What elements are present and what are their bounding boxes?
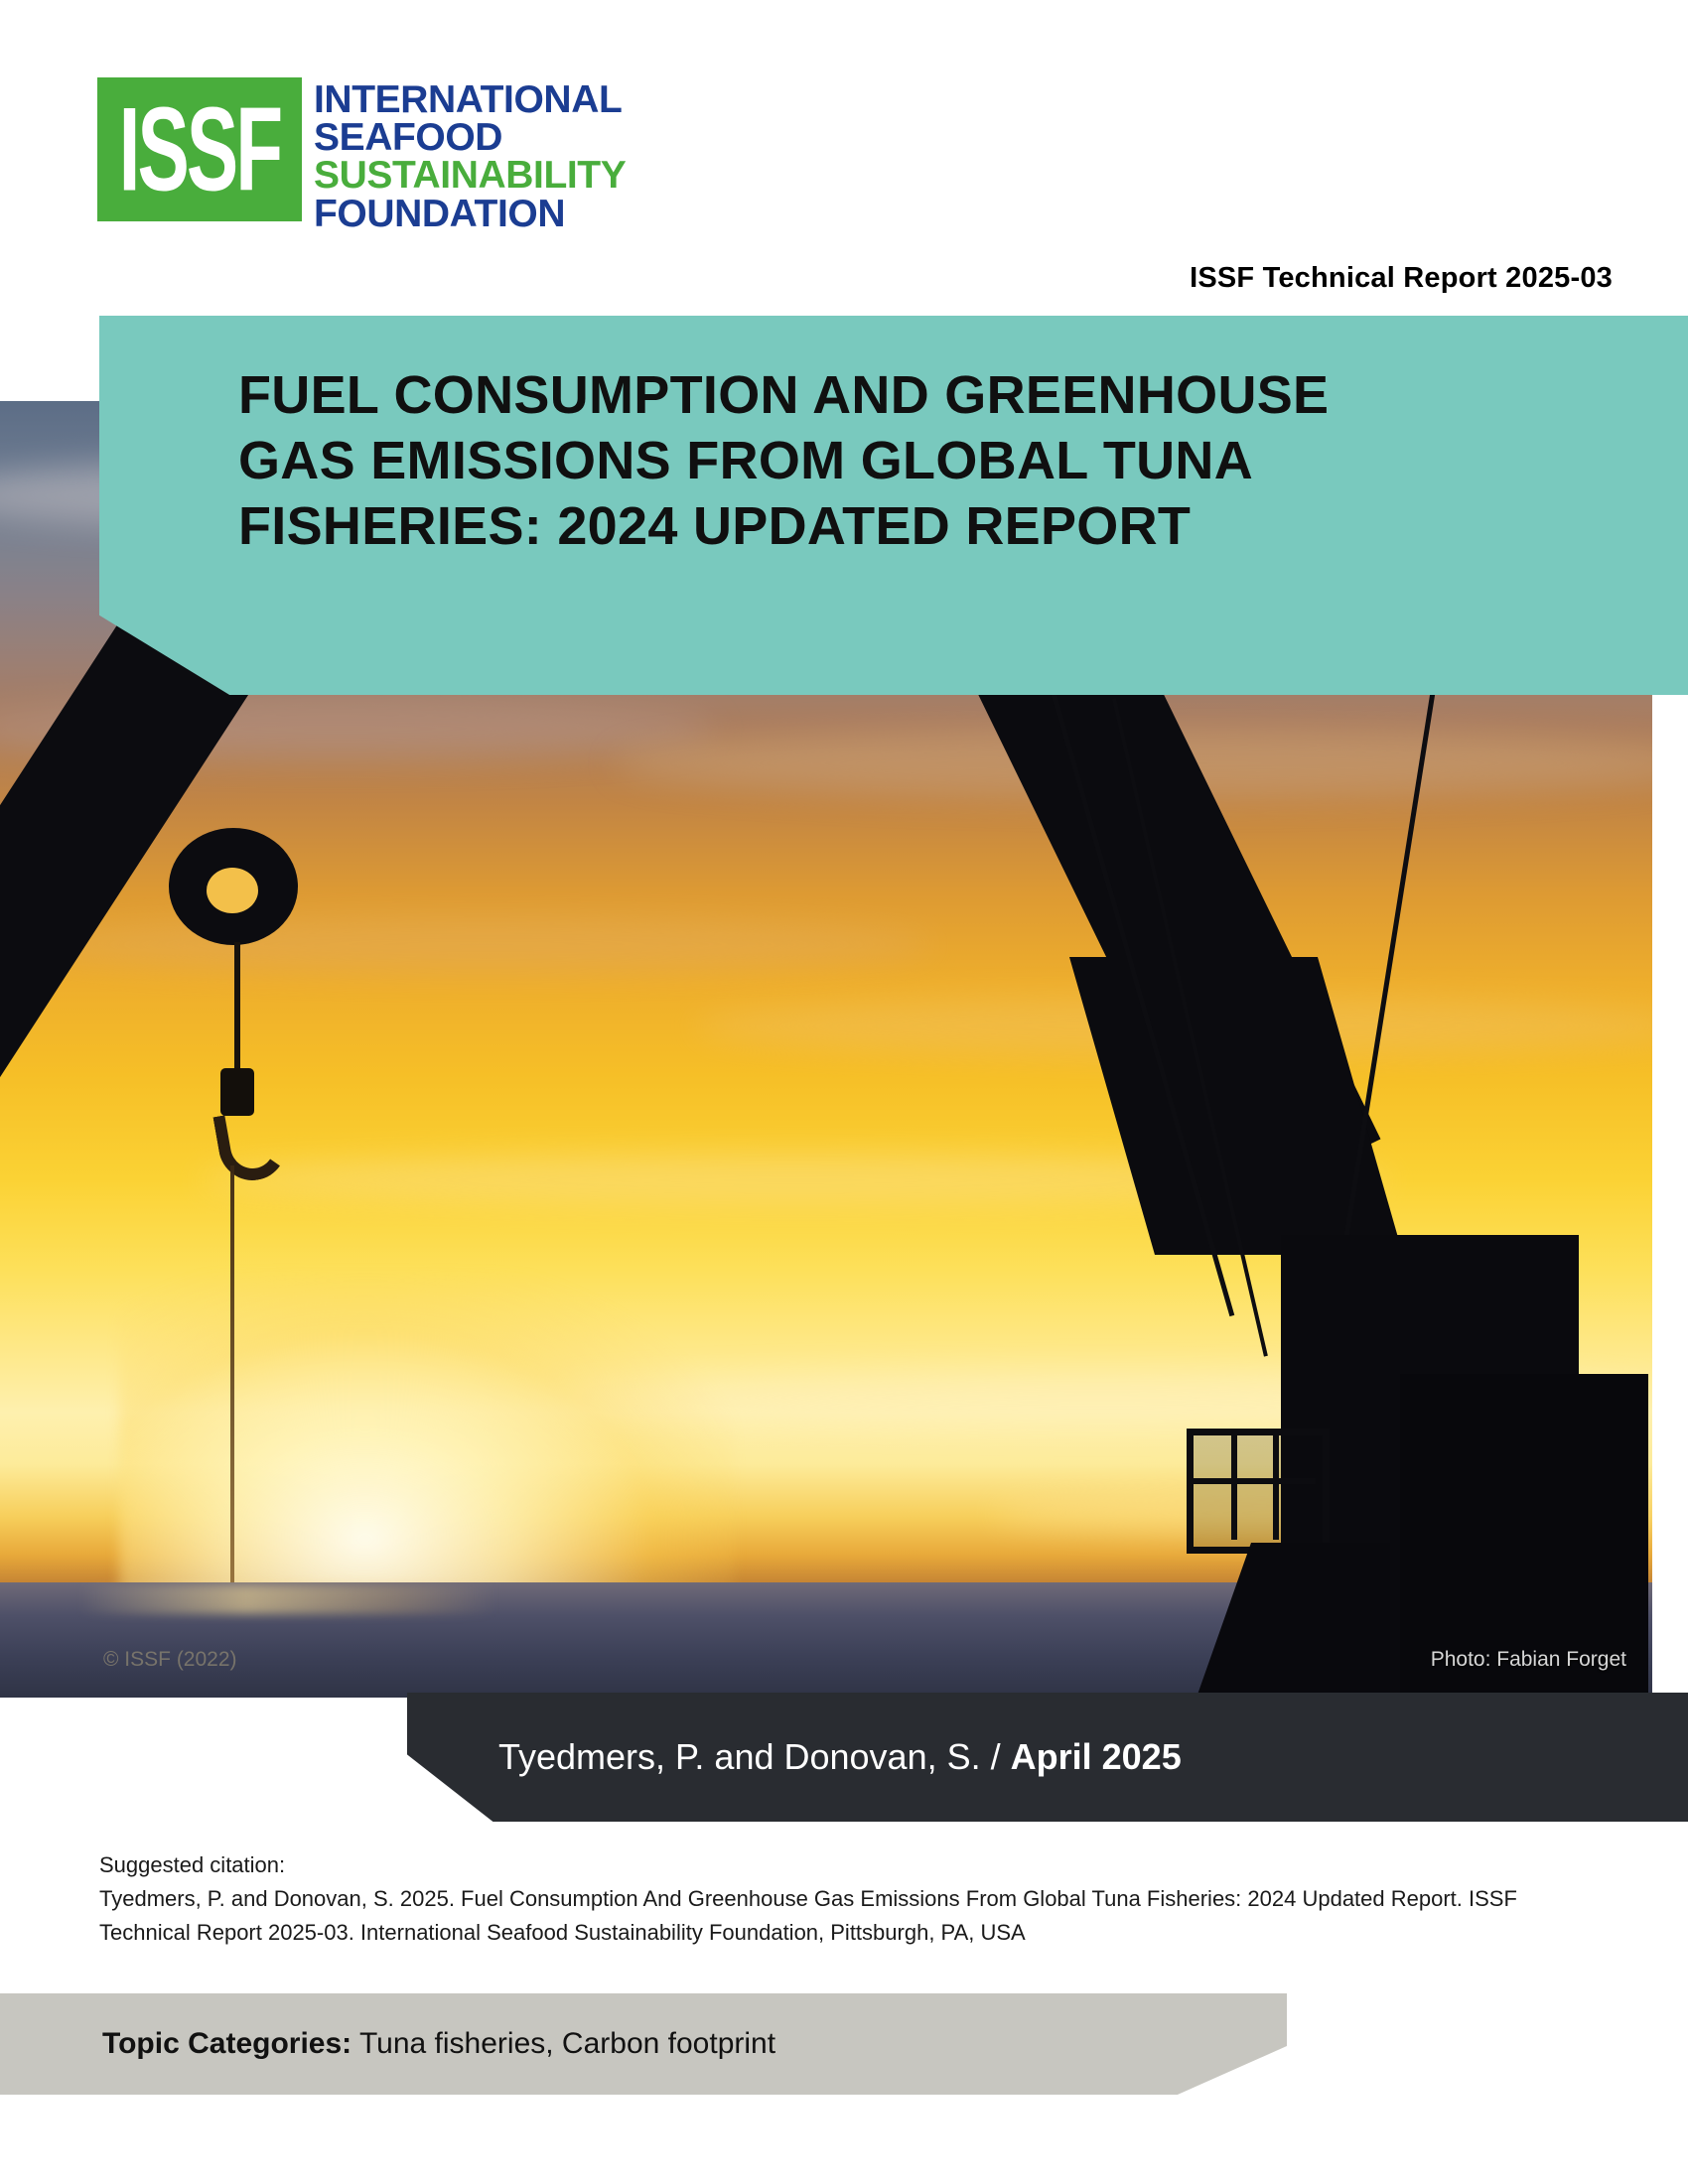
crane-safety-basket <box>1187 1429 1330 1554</box>
author-bar: Tyedmers, P. and Donovan, S. / April 202… <box>407 1693 1688 1822</box>
page-title-line-1: FUEL CONSUMPTION AND GREENHOUSE <box>238 363 1648 429</box>
citation-body: Tyedmers, P. and Donovan, S. 2025. Fuel … <box>99 1882 1569 1950</box>
crane-hook-block <box>220 1068 254 1116</box>
issf-logo-mark-text: ISSF <box>119 90 280 209</box>
report-number: ISSF Technical Report 2025-03 <box>1190 262 1613 295</box>
logo-word-international: INTERNATIONAL <box>314 81 626 119</box>
publication-date: April 2025 <box>1011 1736 1182 1777</box>
citation-label: Suggested citation: <box>99 1848 1569 1882</box>
crane-hook-line <box>234 942 240 1071</box>
issf-logo: ISSF INTERNATIONAL SEAFOOD SUSTAINABILIT… <box>97 77 626 233</box>
sea-shimmer <box>79 1584 496 1614</box>
topic-categories-line: Topic Categories: Tuna fisheries, Carbon… <box>102 2027 775 2061</box>
photo-copyright: © ISSF (2022) <box>103 1648 237 1672</box>
issf-logo-wordmark: INTERNATIONAL SEAFOOD SUSTAINABILITY FOU… <box>314 81 626 233</box>
photo-credit: Photo: Fabian Forget <box>1431 1648 1626 1672</box>
author-line: Tyedmers, P. and Donovan, S. / April 202… <box>498 1736 1182 1778</box>
title-block: FUEL CONSUMPTION AND GREENHOUSE GAS EMIS… <box>99 316 1688 695</box>
logo-word-foundation: FOUNDATION <box>314 196 626 233</box>
crane-left-sky-gap <box>207 868 258 913</box>
logo-word-seafood: SEAFOOD <box>314 119 626 157</box>
page-title-line-2: GAS EMISSIONS FROM GLOBAL TUNA <box>238 429 1648 494</box>
issf-logo-mark: ISSF <box>97 77 302 221</box>
page-title: FUEL CONSUMPTION AND GREENHOUSE GAS EMIS… <box>238 363 1648 560</box>
topic-categories-value: Tuna fisheries, Carbon footprint <box>352 2027 775 2060</box>
page-title-line-3: FISHERIES: 2024 UPDATED REPORT <box>238 494 1648 560</box>
crane-basket-rail <box>1187 1478 1316 1484</box>
logo-word-sustainability: SUSTAINABILITY <box>314 157 626 195</box>
author-names: Tyedmers, P. and Donovan, S. / <box>498 1736 1011 1777</box>
topic-categories-bar: Topic Categories: Tuna fisheries, Carbon… <box>0 1993 1287 2095</box>
crane-hanging-wire <box>230 1165 234 1582</box>
topic-categories-label: Topic Categories: <box>102 2027 352 2060</box>
suggested-citation: Suggested citation: Tyedmers, P. and Don… <box>99 1848 1569 1950</box>
cloud-6 <box>40 917 933 972</box>
